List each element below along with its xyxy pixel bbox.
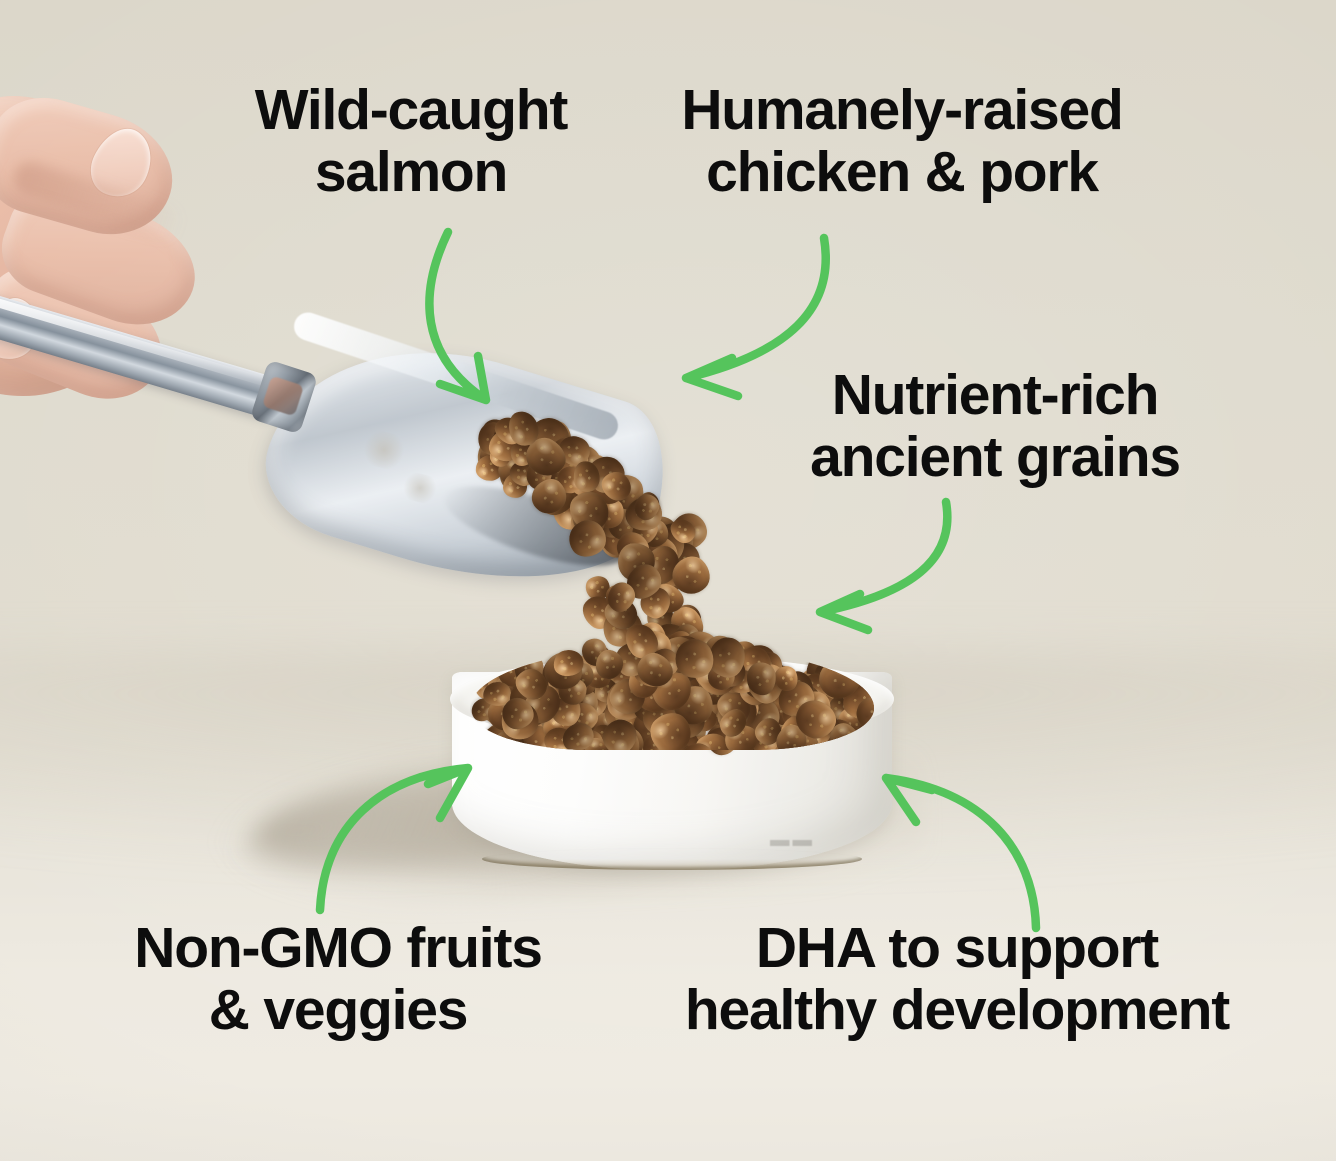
kibble-mound-top: [500, 612, 830, 692]
bowl-base-edge: [482, 848, 862, 870]
callout-label-dha: DHA to support healthy development: [672, 918, 1242, 1041]
callout-label-salmon: Wild-caught salmon: [196, 80, 626, 203]
bowl-stamp-mark: [770, 840, 812, 846]
scoop-handle: [0, 289, 292, 423]
callout-label-grains: Nutrient-rich ancient grains: [780, 365, 1210, 488]
infographic-canvas: Wild-caught salmon Humanely-raised chick…: [0, 0, 1336, 1161]
callout-label-nongmo: Non-GMO fruits & veggies: [88, 918, 588, 1041]
callout-label-chicken: Humanely-raised chicken & pork: [642, 80, 1162, 203]
